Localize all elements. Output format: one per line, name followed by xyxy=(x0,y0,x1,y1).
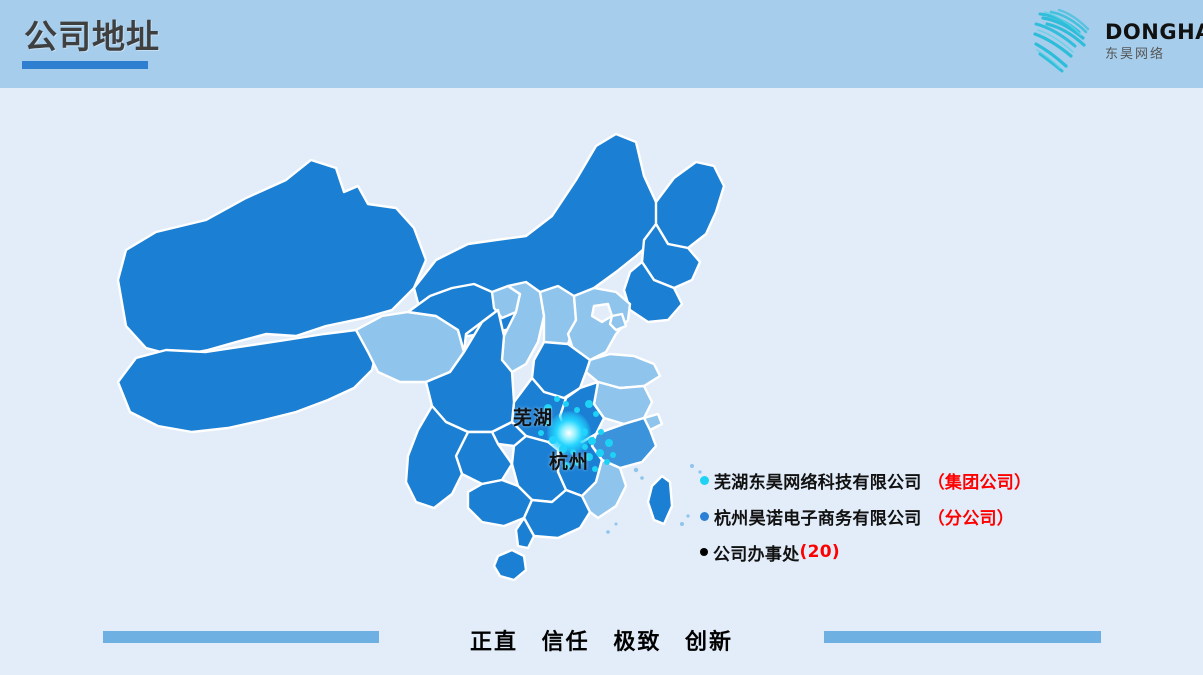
slogan-word: 创新 xyxy=(685,630,733,655)
legend-company-tag: （分公司） xyxy=(928,504,1015,529)
china-map xyxy=(96,120,736,620)
logo-english-name: DONGHAO xyxy=(1105,20,1193,44)
logo-chinese-name: 东昊网络 xyxy=(1105,46,1193,64)
legend-bullet-black-icon xyxy=(700,548,708,556)
legend-company-name: 芜湖东昊网络科技有限公司 xyxy=(714,468,922,493)
map-label-wuhu: 芜湖 xyxy=(513,403,553,430)
legend-item-offices: 公司办事处 (20) xyxy=(700,534,1120,570)
legend-bullet-blue-icon xyxy=(700,512,709,521)
logo-text-block: DONGHAO 东昊网络 xyxy=(1105,20,1193,64)
legend-item-group-company: 芜湖东昊网络科技有限公司 （集团公司） xyxy=(700,462,1120,498)
footer-slogan: 正直 信任 极致 创新 xyxy=(0,624,1203,656)
slide-root: 公司地址 xyxy=(0,0,1203,675)
company-logo: DONGHAO 东昊网络 xyxy=(1025,6,1193,78)
slide-header: 公司地址 xyxy=(0,0,1203,88)
legend-item-branch-company: 杭州昊诺电子商务有限公司 （分公司） xyxy=(700,498,1120,534)
legend-office-count: (20) xyxy=(800,542,840,562)
map-label-hangzhou: 杭州 xyxy=(549,447,589,474)
slogan-word: 正直 xyxy=(470,630,518,655)
legend-bullet-cyan-icon xyxy=(700,476,709,485)
legend-company-name: 公司办事处 xyxy=(713,540,800,565)
legend-company-name: 杭州昊诺电子商务有限公司 xyxy=(714,504,922,529)
title-underline xyxy=(22,61,148,69)
legend-company-tag: （集团公司） xyxy=(928,468,1032,493)
slogan-word: 信任 xyxy=(542,630,590,655)
page-title: 公司地址 xyxy=(24,17,160,57)
legend: 芜湖东昊网络科技有限公司 （集团公司） 杭州昊诺电子商务有限公司 （分公司） 公… xyxy=(700,462,1120,570)
slogan-word: 极致 xyxy=(613,630,661,655)
wing-logo-icon xyxy=(1031,8,1105,74)
